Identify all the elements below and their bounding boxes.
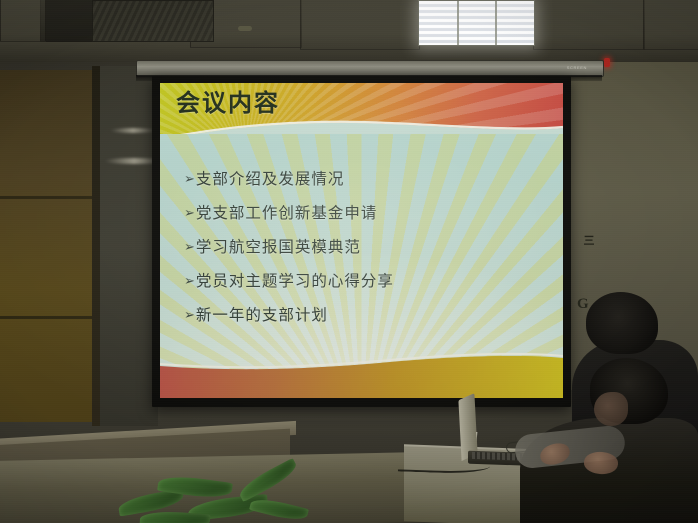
smoke-detector-icon [238,26,252,31]
ceiling-vent-icon [92,0,214,42]
person-front-face [594,392,628,426]
wall-wood-panel [0,70,92,422]
bullet-text: 党员对主题学习的心得分享 [196,269,394,291]
bullet-text: 党支部工作创新基金申请 [196,201,378,223]
bullet-text: 新一年的支部计划 [196,303,328,325]
bullet-arrow-icon: ➢ [184,206,195,219]
projection-screen: 会议内容 ➢ 支部介绍及发展情况 ➢ 党支部工作创新基金申请 ➢ 学习航空报国英… [160,83,563,398]
wall-panel-divider [92,66,100,426]
slide-title: 会议内容 [176,87,280,121]
list-item: ➢ 支部介绍及发展情况 [184,167,553,201]
ceiling-light-panel [418,0,535,46]
person-back-head [586,292,658,354]
conference-room-photo: SCREEN 会议内容 ➢ 支部介绍及发展情况 ➢ 党支部工作创新基 [0,0,698,523]
ceiling [0,0,698,62]
slide-title-band: 会议内容 [160,83,563,134]
exit-indicator-icon [604,58,610,67]
bullet-arrow-icon: ➢ [184,308,195,321]
bullet-arrow-icon: ➢ [184,240,195,253]
slide-bottom-band [160,352,563,398]
wall-left-section [100,66,158,426]
bullet-arrow-icon: ➢ [184,274,195,287]
bullet-text: 支部介绍及发展情况 [196,167,345,189]
potted-plant [118,468,308,523]
list-item: ➢ 党支部工作创新基金申请 [184,201,553,235]
list-item: ➢ 新一年的支部计划 [184,303,553,337]
list-item: ➢ 党员对主题学习的心得分享 [184,269,553,303]
bullet-arrow-icon: ➢ [184,172,195,185]
wall-sign-letters: 三 [576,236,602,247]
list-item: ➢ 学习航空报国英模典范 [184,235,553,269]
wall-sign-letter-g: G [577,296,589,313]
slide-bullet-list: ➢ 支部介绍及发展情况 ➢ 党支部工作创新基金申请 ➢ 学习航空报国英模典范 ➢… [184,167,553,337]
roller-brand-label: SCREEN [567,65,587,70]
bullet-text: 学习航空报国英模典范 [196,235,361,257]
